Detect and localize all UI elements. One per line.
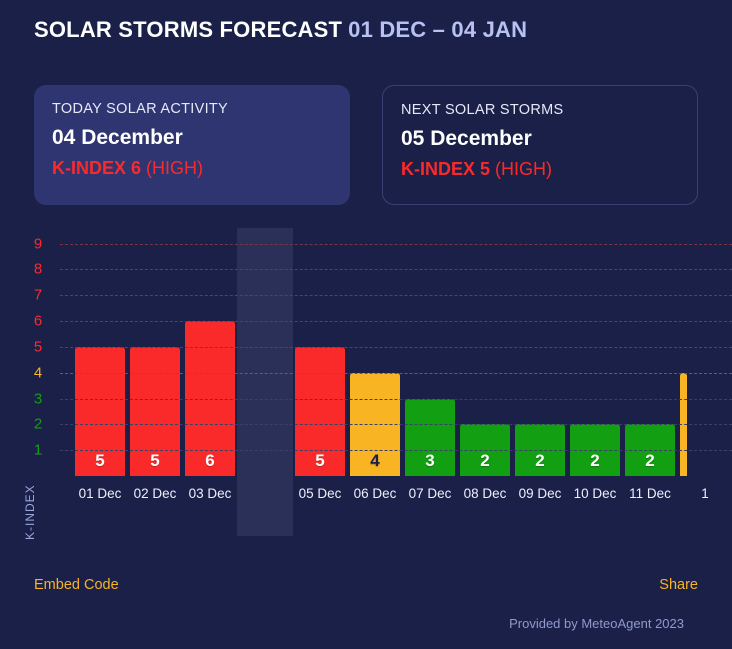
x-axis-tick-label: 01 Dec — [75, 486, 125, 501]
card-label: NEXT SOLAR STORMS — [401, 102, 679, 118]
bar-value-label: 3 — [425, 452, 434, 476]
bar-value-label: 4 — [370, 452, 379, 476]
y-axis-tick-label: 7 — [28, 287, 48, 304]
gridline — [60, 347, 732, 348]
x-axis-tick-label: 07 Dec — [405, 486, 455, 501]
card-next-solar-storms[interactable]: NEXT SOLAR STORMS 05 December K-INDEX 5 … — [382, 85, 698, 205]
card-kindex: K-INDEX 5 (HIGH) — [401, 159, 679, 180]
k-index-bar-chart: K-INDEX 556654322224 987654321 01 Dec02 … — [0, 228, 732, 548]
x-axis-tick-label: 05 Dec — [295, 486, 345, 501]
bar-value-label: 2 — [480, 452, 489, 476]
gridline — [60, 450, 732, 451]
card-today-solar-activity[interactable]: TODAY SOLAR ACTIVITY 04 December K-INDEX… — [34, 85, 350, 205]
x-axis-tick-label: 06 Dec — [350, 486, 400, 501]
card-kindex-value: K-INDEX 6 — [52, 158, 141, 178]
y-axis-tick-label: 3 — [28, 390, 48, 407]
page-title-range: 01 DEC – 04 JAN — [348, 17, 527, 42]
gridline — [60, 399, 732, 400]
x-axis-tick-label: 03 Dec — [185, 486, 235, 501]
x-axis-tick-label: 02 Dec — [130, 486, 180, 501]
bar[interactable]: 3 — [405, 399, 455, 477]
bar-value-label: 6 — [205, 452, 214, 476]
bar-value-label: 2 — [590, 452, 599, 476]
share-link[interactable]: Share — [659, 577, 698, 593]
y-axis-tick-label: 1 — [28, 442, 48, 459]
card-kindex-level: (HIGH) — [146, 158, 203, 178]
embed-code-link[interactable]: Embed Code — [34, 577, 119, 593]
bar-value-label: 2 — [645, 452, 654, 476]
bar[interactable]: 5 — [295, 347, 345, 476]
y-axis-tick-label: 4 — [28, 364, 48, 381]
y-axis-tick-label: 2 — [28, 416, 48, 433]
page-title-main: SOLAR STORMS FORECAST — [34, 17, 342, 42]
y-axis-tick-label: 9 — [28, 235, 48, 252]
x-axis-tick-label: 10 Dec — [570, 486, 620, 501]
gridline — [60, 295, 732, 296]
y-axis-tick-label: 6 — [28, 313, 48, 330]
provided-by-label: Provided by MeteoAgent 2023 — [509, 616, 684, 631]
x-axis-tick-label: 11 Dec — [625, 486, 675, 501]
today-highlight-band — [237, 228, 293, 536]
bar-value-label: 5 — [150, 452, 159, 476]
gridline — [60, 373, 732, 374]
bar-value-label: 2 — [535, 452, 544, 476]
x-axis-tick-label: 08 Dec — [460, 486, 510, 501]
card-kindex-value: K-INDEX 5 — [401, 159, 490, 179]
chart-plot-area: 556654322224 — [60, 228, 732, 476]
card-date: 04 December — [52, 126, 332, 150]
y-axis-caption: K-INDEX — [24, 460, 38, 540]
card-label: TODAY SOLAR ACTIVITY — [52, 101, 332, 117]
bar-value-label: 5 — [315, 452, 324, 476]
footer-links: Embed Code Share — [34, 577, 698, 593]
gridline — [60, 269, 732, 270]
bar[interactable]: 5 — [130, 347, 180, 476]
y-axis-caption-label: K-INDEX — [23, 484, 37, 540]
y-axis-tick-label: 5 — [28, 338, 48, 355]
x-axis-tick-label: 09 Dec — [515, 486, 565, 501]
card-date: 05 December — [401, 127, 679, 151]
y-axis-tick-label: 8 — [28, 261, 48, 278]
page-title: SOLAR STORMS FORECAST01 DEC – 04 JAN — [34, 17, 527, 43]
x-axis-tick-label: 1 — [680, 486, 730, 501]
gridline — [60, 244, 732, 245]
card-kindex: K-INDEX 6 (HIGH) — [52, 158, 332, 179]
gridline — [60, 321, 732, 322]
gridline — [60, 424, 732, 425]
bar-value-label: 5 — [95, 452, 104, 476]
summary-cards: TODAY SOLAR ACTIVITY 04 December K-INDEX… — [34, 85, 698, 205]
bar[interactable]: 5 — [75, 347, 125, 476]
card-kindex-level: (HIGH) — [495, 159, 552, 179]
